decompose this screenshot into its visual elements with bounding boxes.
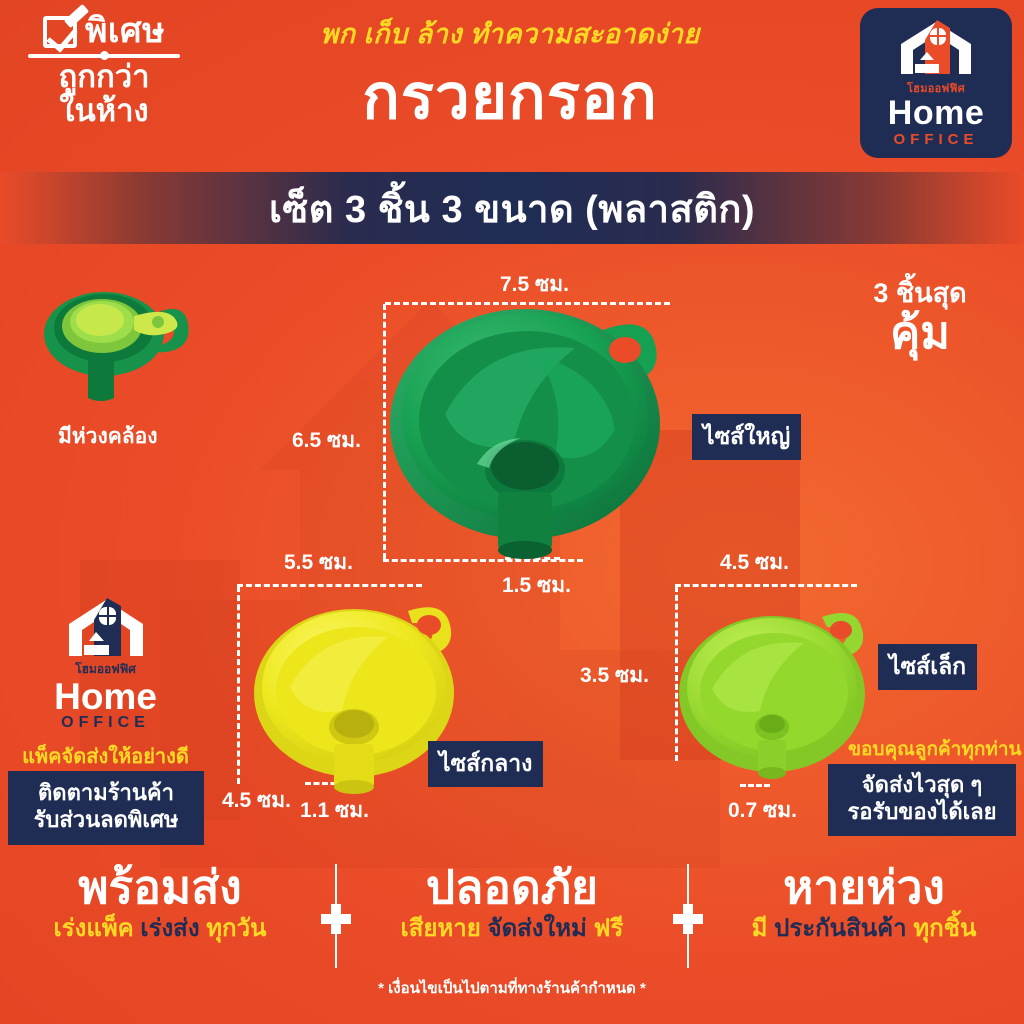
footer-sub-2-part-1: เสียหาย (401, 915, 481, 942)
footer-columns: พร้อมส่ง เร่งแพ็ค เร่งส่ง ทุกวัน ปลอดภัย… (0, 862, 1024, 972)
footer-sub-1: เร่งแพ็ค เร่งส่ง ทุกวัน (1, 915, 319, 944)
dim-large-height: 6.5 ซม. (292, 424, 361, 457)
pack-note: แพ็คจัดส่งให้อย่างดี (18, 740, 193, 772)
dim-medium-width: 5.5 ซม. (284, 546, 353, 579)
subtitle-text: เซ็ต 3 ชิ้น 3 ขนาด (พลาสติก) (269, 178, 755, 239)
footer-column-ready: พร้อมส่ง เร่งแพ็ค เร่งส่ง ทุกวัน (1, 862, 319, 943)
footer-sub-1-part-2: เร่งส่ง (140, 915, 199, 942)
home-house-icon (63, 596, 149, 660)
footer-column-safe: ปลอดภัย เสียหาย จัดส่งใหม่ ฟรี (353, 862, 671, 943)
footer-column-warranty: หายห่วง มี ประกันสินค้า ทุกชิ้น (705, 862, 1023, 943)
footer-head-3: หายห่วง (705, 862, 1023, 913)
thanks-note: ขอบคุณลูกค้าทุกท่าน (848, 734, 1022, 764)
footer-sub-3: มี ประกันสินค้า ทุกชิ้น (705, 915, 1023, 944)
value-note-top: 3 ชิ้นสุด (840, 278, 1000, 309)
plus-icon (673, 904, 703, 934)
ship-speed-line2: รอรับของได้เลย (828, 799, 1016, 826)
logo-wordmark: Home (888, 97, 984, 129)
promo-badge: พิเศษ ถูกกว่า ในห้าง (14, 14, 194, 129)
footer-divider-1 (319, 862, 353, 970)
funnel-small-image (676, 597, 876, 792)
dash-small-width (675, 584, 857, 587)
promo-badge-line2: ถูกกว่า (14, 60, 194, 95)
page-title: กรวยกรอก (200, 62, 820, 133)
nested-funnels-caption: มีห่วงคล้อง (58, 420, 158, 453)
footer-head-2: ปลอดภัย (353, 862, 671, 913)
footer-sub-1-part-3: ทุกวัน (206, 915, 266, 942)
value-note-big: คุ้ม (840, 309, 1000, 356)
logo-subwordmark: OFFICE (894, 131, 979, 148)
follow-shop-line2: รับส่วนลดพิเศษ (8, 807, 204, 834)
promo-divider (28, 54, 180, 58)
shop-logo[interactable]: โฮมออฟฟิศ Home OFFICE แพ็คจัดส่งให้อย่าง… (18, 596, 193, 772)
footer-sub-3-part-2: ประกันสินค้า (774, 915, 907, 942)
footer-sub-3-part-3: ทุกชิ้น (913, 915, 976, 942)
footer-sub-3-part-1: มี (752, 915, 768, 942)
header: พิเศษ ถูกกว่า ในห้าง พก เก็บ ล้าง ทำความ… (0, 0, 1024, 172)
product-infographic: พิเศษ ถูกกว่า ในห้าง พก เก็บ ล้าง ทำความ… (0, 0, 1024, 1024)
value-note: 3 ชิ้นสุด คุ้ม (840, 278, 1000, 356)
home-house-icon (895, 18, 977, 78)
dash-medium-height (237, 586, 240, 784)
dim-small-spout: 0.7 ซม. (728, 794, 797, 827)
dim-small-width: 4.5 ซม. (720, 546, 789, 579)
checkbox-check-icon (43, 16, 77, 48)
brand-logo[interactable]: โฮมออฟฟิศ Home OFFICE (860, 8, 1012, 158)
ship-speed-box: จัดส่งไวสุด ๆ รอรับของได้เลย (828, 764, 1016, 836)
title-block: พก เก็บ ล้าง ทำความสะอาดง่าย กรวยกรอก (200, 18, 820, 134)
shop-logo-subwordmark: OFFICE (18, 714, 193, 732)
ship-speed-line1: จัดส่งไวสุด ๆ (828, 772, 1016, 799)
footer-divider-2 (671, 862, 705, 970)
footer-sub-2: เสียหาย จัดส่งใหม่ ฟรี (353, 915, 671, 944)
badge-size-medium: ไซส์กลาง (428, 741, 543, 787)
footer-sub-1-part-1: เร่งแพ็ค (54, 915, 134, 942)
follow-shop-box[interactable]: ติดตามร้านค้า รับส่วนลดพิเศษ (8, 771, 204, 845)
fineprint: * เงื่อนไขเป็นไปตามที่ทางร้านค้ากำหนด * (0, 976, 1024, 1000)
funnel-large-image (385, 294, 675, 589)
plus-icon (321, 904, 351, 934)
promo-badge-line3: ในห้าง (14, 94, 194, 129)
footer-sub-2-part-3: ฟรี (594, 915, 624, 942)
nested-funnels-image (36, 270, 216, 415)
dash-medium-width (237, 584, 422, 587)
subtitle-bar: เซ็ต 3 ชิ้น 3 ขนาด (พลาสติก) (0, 172, 1024, 244)
follow-shop-line1: ติดตามร้านค้า (8, 780, 204, 807)
promo-badge-line1: พิเศษ (85, 14, 165, 50)
footer-head-1: พร้อมส่ง (1, 862, 319, 913)
badge-size-small: ไซส์เล็ก (878, 644, 977, 690)
badge-size-large: ไซส์ใหญ่ (692, 414, 801, 460)
footer: พร้อมส่ง เร่งแพ็ค เร่งส่ง ทุกวัน ปลอดภัย… (0, 862, 1024, 1024)
tagline: พก เก็บ ล้าง ทำความสะอาดง่าย (200, 18, 820, 50)
shop-logo-wordmark: Home (18, 679, 193, 714)
footer-sub-2-part-2: จัดส่งใหม่ (488, 915, 587, 942)
product-stage: มีห่วงคล้อง 3 ชิ้นสุด คุ้ม 7.5 ซม. 6.5 ซ… (0, 244, 1024, 860)
dim-small-height: 3.5 ซม. (580, 659, 649, 692)
